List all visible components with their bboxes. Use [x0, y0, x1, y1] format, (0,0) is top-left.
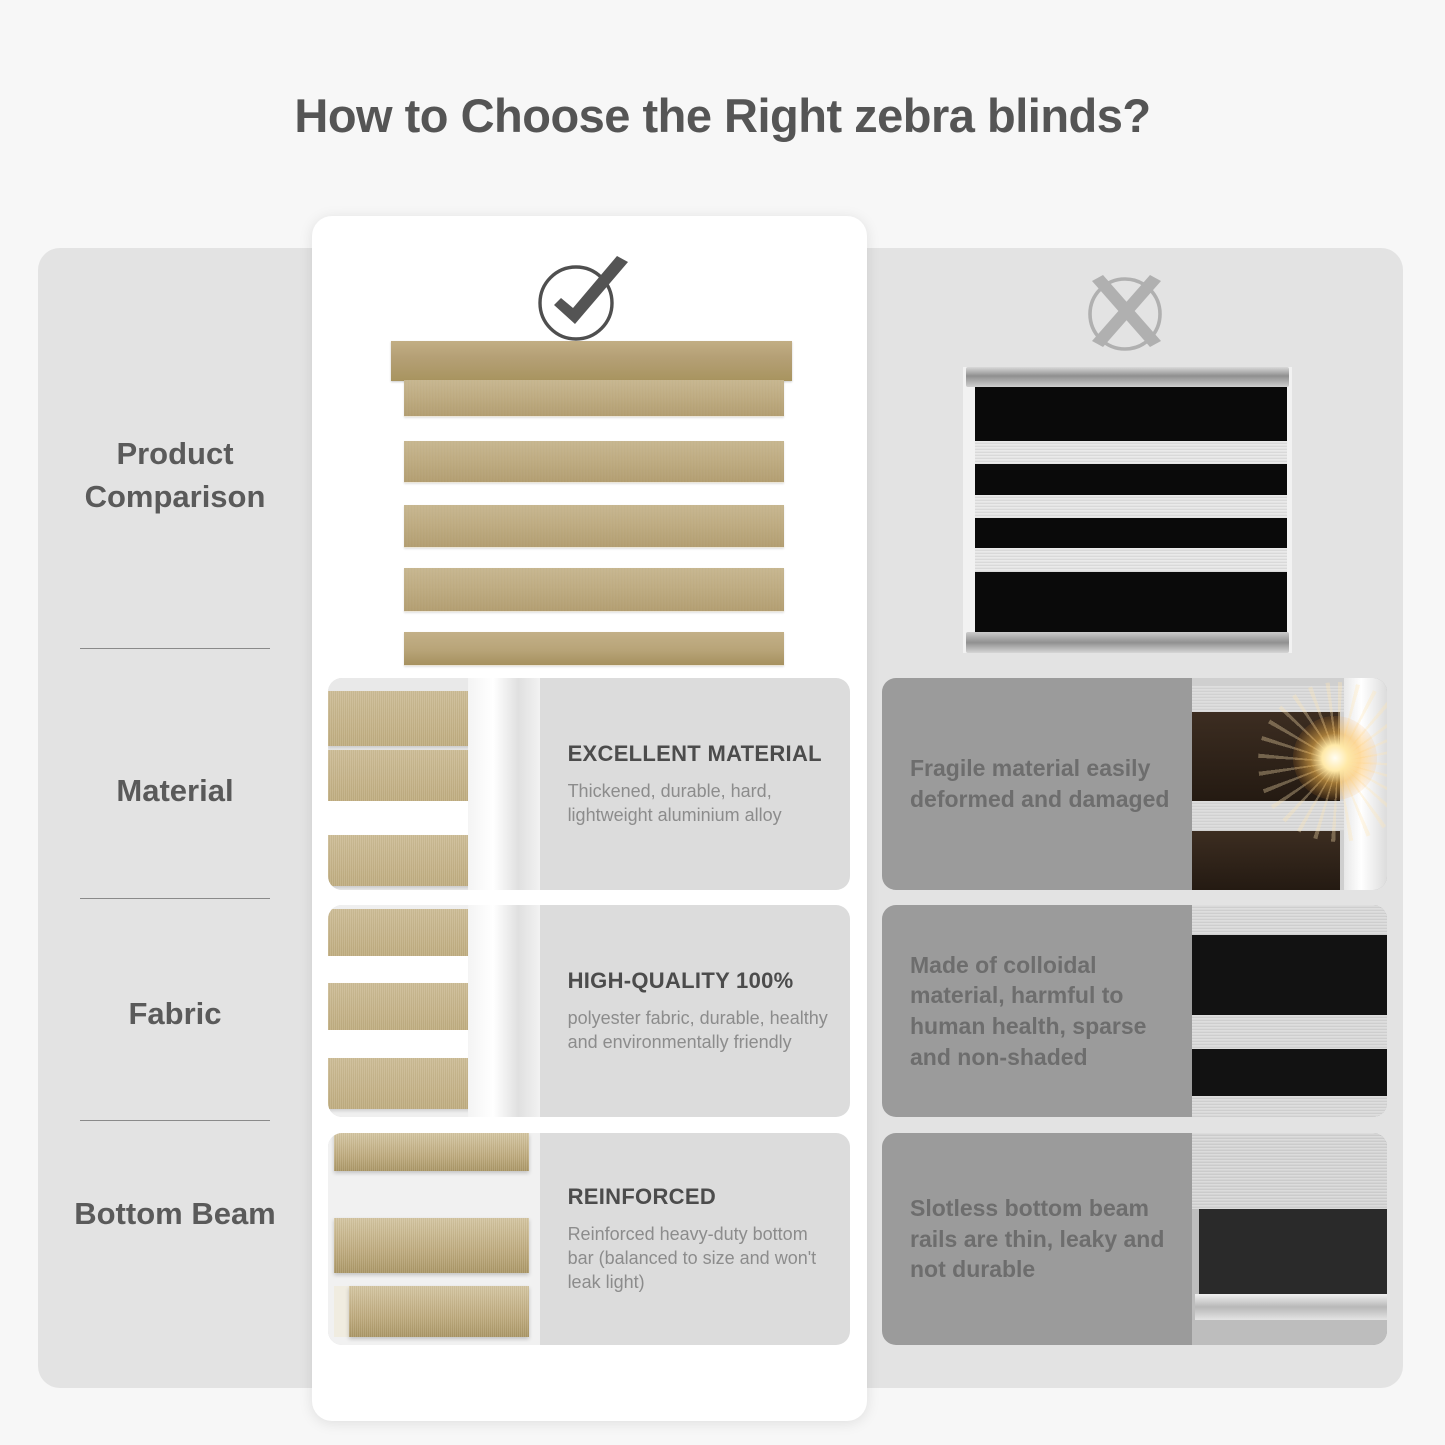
- bad-card-fabric-image: [1192, 905, 1387, 1117]
- row-label-fabric: Fabric: [38, 993, 312, 1036]
- label-divider: [80, 1120, 270, 1121]
- good-card-fabric-image: [328, 905, 540, 1117]
- hero-image-beige-zebra-blind: [383, 341, 796, 668]
- bad-card-fabric-text: Made of colloidal material, harmful to h…: [882, 905, 1192, 1117]
- label-divider: [80, 648, 270, 649]
- check-circle-icon: [528, 248, 638, 348]
- cross-circle-icon: [1073, 267, 1177, 361]
- bad-card-material-image: [1192, 678, 1387, 890]
- bad-card-bottom-beam-label: Slotless bottom beam rails are thin, lea…: [910, 1193, 1174, 1285]
- blind-bottom-rail: [966, 632, 1288, 653]
- good-card-material-image: [328, 678, 540, 890]
- bad-card-fabric-label: Made of colloidal material, harmful to h…: [910, 950, 1174, 1072]
- blind-sheer-stripe: [975, 495, 1288, 518]
- criteria-label-column: Product Comparison Material Fabric Botto…: [38, 248, 312, 1388]
- bad-card-material-label: Fragile material easily deformed and dam…: [910, 753, 1174, 814]
- good-card-fabric: HIGH-QUALITY 100% polyester fabric, dura…: [328, 905, 850, 1117]
- blind-sheer-stripe: [975, 548, 1288, 571]
- good-card-fabric-body: polyester fabric, durable, healthy and e…: [568, 1006, 832, 1055]
- blind-bottom-bar: [404, 632, 784, 666]
- good-card-bottom-beam-text: REINFORCED Reinforced heavy-duty bottom …: [540, 1133, 850, 1345]
- good-card-bottom-beam: REINFORCED Reinforced heavy-duty bottom …: [328, 1133, 850, 1345]
- label-divider: [80, 898, 270, 899]
- blind-slat: [404, 441, 784, 483]
- bad-card-material-text: Fragile material easily deformed and dam…: [882, 678, 1192, 890]
- good-card-material-heading: EXCELLENT MATERIAL: [568, 741, 832, 767]
- good-card-material: EXCELLENT MATERIAL Thickened, durable, h…: [328, 678, 850, 890]
- good-card-material-body: Thickened, durable, hard, lightweight al…: [568, 779, 832, 828]
- blind-sheer-stripe: [975, 441, 1288, 464]
- blind-slat: [404, 505, 784, 549]
- good-card-bottom-beam-heading: REINFORCED: [568, 1184, 832, 1210]
- hero-image-black-zebra-blind: [963, 367, 1292, 653]
- good-card-bottom-beam-body: Reinforced heavy-duty bottom bar (balanc…: [568, 1222, 832, 1295]
- good-card-material-text: EXCELLENT MATERIAL Thickened, durable, h…: [540, 678, 850, 890]
- page-title: How to Choose the Right zebra blinds?: [0, 88, 1445, 143]
- bad-card-bottom-beam-image: [1192, 1133, 1387, 1345]
- bad-card-bottom-beam-text: Slotless bottom beam rails are thin, lea…: [882, 1133, 1192, 1345]
- blind-body: [975, 387, 1288, 632]
- good-card-fabric-text: HIGH-QUALITY 100% polyester fabric, dura…: [540, 905, 850, 1117]
- good-card-fabric-heading: HIGH-QUALITY 100%: [568, 968, 832, 994]
- blind-slat: [404, 380, 784, 417]
- bad-card-material: Fragile material easily deformed and dam…: [882, 678, 1387, 890]
- blind-headrail: [966, 367, 1288, 387]
- good-card-bottom-beam-image: [328, 1133, 540, 1345]
- row-label-product-comparison: Product Comparison: [38, 433, 312, 519]
- row-label-material: Material: [38, 770, 312, 813]
- bad-card-bottom-beam: Slotless bottom beam rails are thin, lea…: [882, 1133, 1387, 1345]
- bad-card-fabric: Made of colloidal material, harmful to h…: [882, 905, 1387, 1117]
- blind-slat: [404, 568, 784, 612]
- row-label-bottom-beam: Bottom Beam: [38, 1193, 312, 1236]
